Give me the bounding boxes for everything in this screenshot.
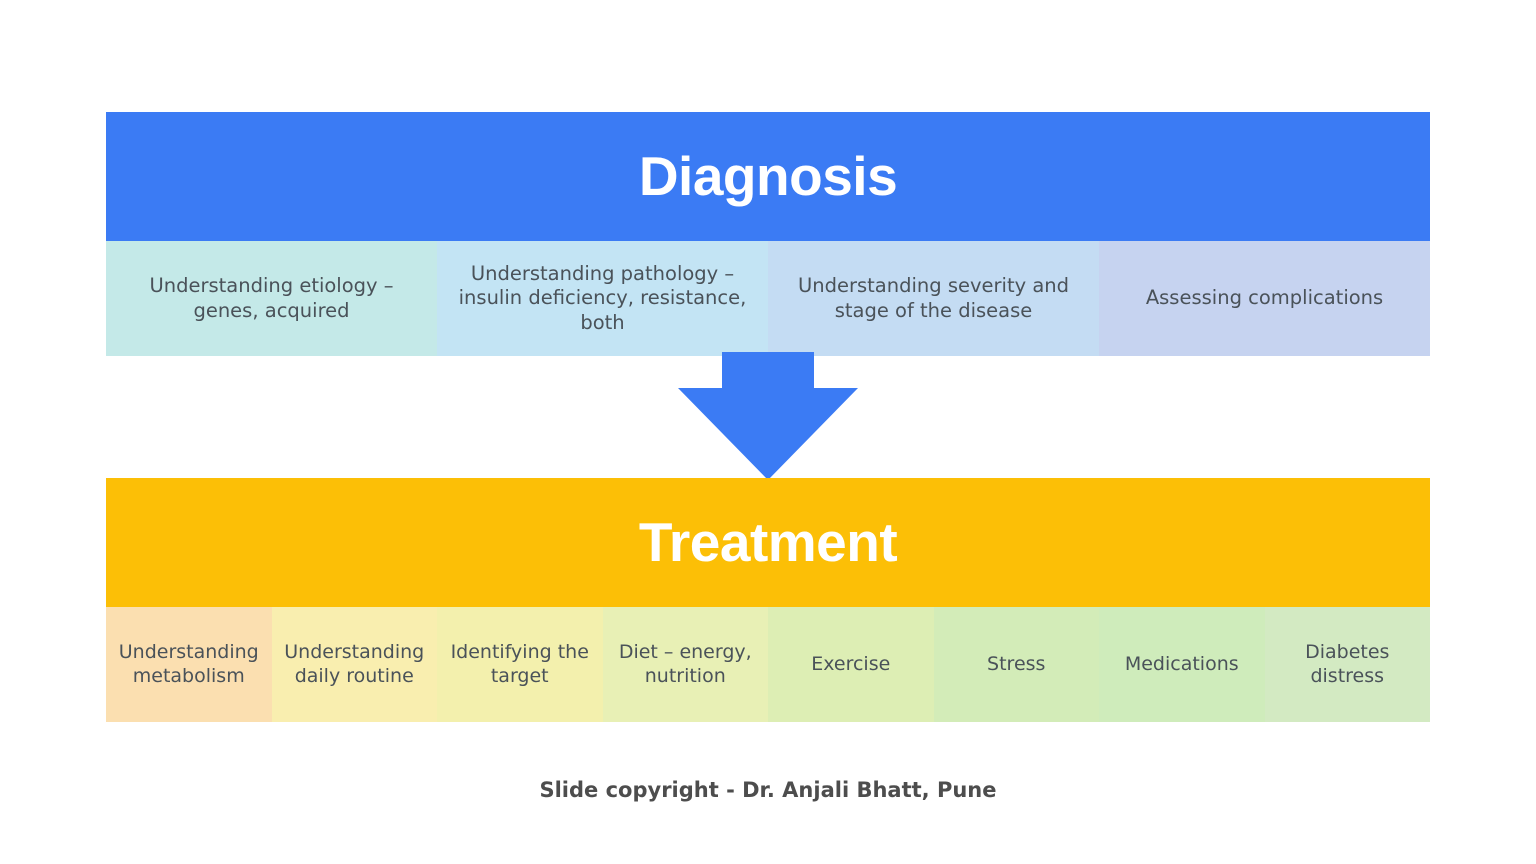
diagnosis-cell-4[interactable]: Assessing complications xyxy=(1099,241,1430,356)
treatment-cell-2-label: Understanding daily routine xyxy=(282,641,428,689)
treatment-cell-row: Understanding metabolism Understanding d… xyxy=(106,607,1430,722)
treatment-header-band: Treatment xyxy=(106,478,1430,607)
treatment-cell-7-label: Medications xyxy=(1125,653,1239,677)
diagnosis-cell-3-label: Understanding severity and stage of the … xyxy=(778,274,1089,323)
arrow-down-shape xyxy=(678,352,858,480)
diagnosis-title: Diagnosis xyxy=(639,149,897,204)
diagnosis-cell-3[interactable]: Understanding severity and stage of the … xyxy=(768,241,1099,356)
diagnosis-cell-2-label: Understanding pathology – insulin defici… xyxy=(447,262,758,335)
diagnosis-header-band: Diagnosis xyxy=(106,112,1430,241)
slide-copyright-footer: Slide copyright - Dr. Anjali Bhatt, Pune xyxy=(0,778,1536,802)
treatment-cell-6[interactable]: Stress xyxy=(934,607,1100,722)
treatment-cell-4[interactable]: Diet – energy, nutrition xyxy=(603,607,769,722)
treatment-cell-5-label: Exercise xyxy=(811,653,890,677)
treatment-cell-8[interactable]: Diabetes distress xyxy=(1265,607,1431,722)
slide-canvas: Diagnosis Understanding etiology – genes… xyxy=(0,0,1536,864)
diagnosis-cell-4-label: Assessing complications xyxy=(1146,286,1383,310)
diagnosis-cell-row: Understanding etiology – genes, acquired… xyxy=(106,241,1430,356)
treatment-section: Treatment Understanding metabolism Under… xyxy=(106,478,1430,722)
diagnosis-cell-2[interactable]: Understanding pathology – insulin defici… xyxy=(437,241,768,356)
arrow-down-icon xyxy=(678,352,858,480)
treatment-cell-2[interactable]: Understanding daily routine xyxy=(272,607,438,722)
treatment-cell-6-label: Stress xyxy=(987,653,1045,677)
diagnosis-cell-1[interactable]: Understanding etiology – genes, acquired xyxy=(106,241,437,356)
treatment-cell-3[interactable]: Identifying the target xyxy=(437,607,603,722)
treatment-cell-1-label: Understanding metabolism xyxy=(116,641,262,689)
treatment-title: Treatment xyxy=(639,515,897,570)
treatment-cell-7[interactable]: Medications xyxy=(1099,607,1265,722)
treatment-cell-1[interactable]: Understanding metabolism xyxy=(106,607,272,722)
treatment-cell-4-label: Diet – energy, nutrition xyxy=(613,641,759,689)
treatment-cell-3-label: Identifying the target xyxy=(447,641,593,689)
diagnosis-cell-1-label: Understanding etiology – genes, acquired xyxy=(116,274,427,323)
diagnosis-section: Diagnosis Understanding etiology – genes… xyxy=(106,112,1430,356)
treatment-cell-5[interactable]: Exercise xyxy=(768,607,934,722)
treatment-cell-8-label: Diabetes distress xyxy=(1275,641,1421,689)
